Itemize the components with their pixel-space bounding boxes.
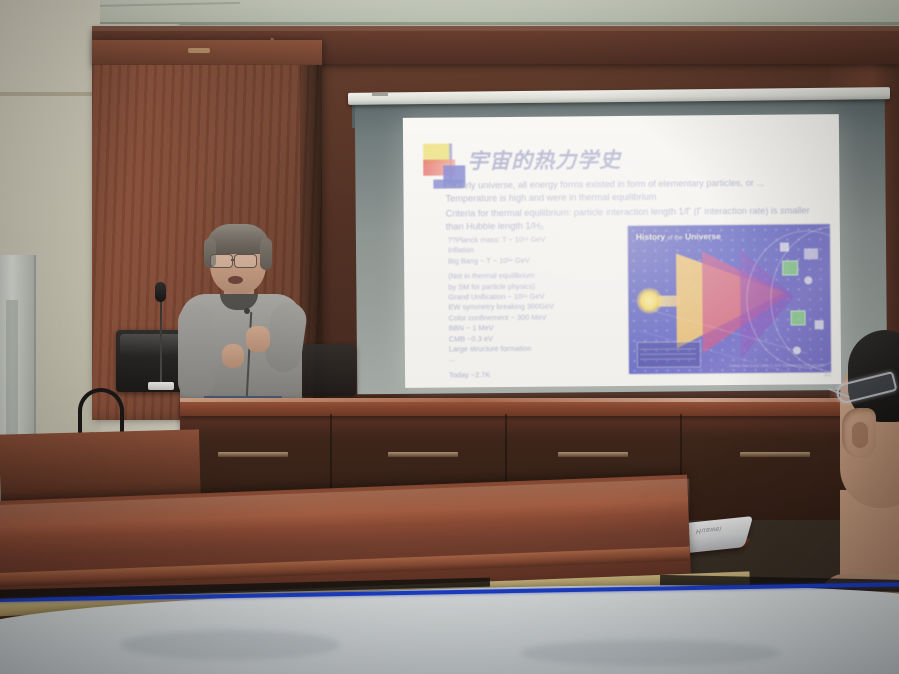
presenter-mouth xyxy=(228,276,243,284)
lapel-microphone-icon xyxy=(244,308,250,314)
presenter-hair-side xyxy=(260,238,272,270)
slide-lead-text-1: In early universe, all energy forms exis… xyxy=(445,176,805,204)
presenter xyxy=(176,228,306,404)
presenter-right-hand xyxy=(246,326,270,352)
eyeglasses-bridge xyxy=(231,259,235,261)
presenter-left-hand xyxy=(222,344,244,368)
structure-icon xyxy=(804,248,818,259)
figure-credit: Particle Data Group, LBNL © 2015 Support… xyxy=(729,363,825,368)
eyeglasses-icon xyxy=(234,254,257,268)
podium-panel-strip xyxy=(558,452,628,457)
roller-tab xyxy=(372,93,388,96)
wall-trim xyxy=(0,92,100,96)
podium-panel-strip xyxy=(388,452,458,457)
figure-title: History of the Universe xyxy=(636,231,721,242)
microphone-stem xyxy=(160,290,162,385)
galaxy-icon xyxy=(782,260,798,275)
podium-panel-strip xyxy=(740,452,810,457)
history-of-universe-figure: History of the Universe Particle Data Gr… xyxy=(628,224,831,374)
lecture-hall-photo: 宇宙的热力学史 In early universe, all energy fo… xyxy=(0,0,899,674)
figure-key-legend xyxy=(637,341,701,368)
cloth-fold xyxy=(520,640,780,666)
podium-top-highlight xyxy=(180,398,899,402)
slide-title: 宇宙的热力学史 xyxy=(467,144,621,175)
key-row-line xyxy=(640,348,696,349)
figure-title-word3: Universe xyxy=(685,231,721,241)
eyeglasses-icon xyxy=(210,254,233,268)
column-vent xyxy=(188,48,210,53)
podium-panel-strip xyxy=(218,452,288,457)
key-row-line xyxy=(640,358,696,359)
particle-icon xyxy=(793,346,801,354)
particle-icon xyxy=(804,276,812,284)
audience-member-foreground xyxy=(812,330,899,610)
microphone-base xyxy=(148,382,174,390)
cloth-fold xyxy=(120,630,340,660)
particle-icon xyxy=(815,320,824,329)
key-row-line xyxy=(640,353,696,354)
presenter-left-arm xyxy=(178,304,214,400)
list-item: Today ~2.7K xyxy=(449,369,629,381)
presentation-slide: 宇宙的热力学史 In early universe, all energy fo… xyxy=(403,114,841,388)
audience-ear-canal xyxy=(852,422,868,448)
microphone-head[interactable] xyxy=(155,282,166,302)
figure-title-word1: History xyxy=(636,232,665,242)
particle-icon xyxy=(780,243,789,252)
galaxy-icon xyxy=(791,310,806,325)
chair-armrest xyxy=(78,388,124,438)
slide-timeline-list: ??Planck mass: T ~ 10¹⁹ GeV Inflation Bi… xyxy=(448,234,629,381)
figure-title-word2: of the xyxy=(668,235,683,241)
beam-highlight xyxy=(92,26,899,31)
projection-screen: 宇宙的热力学史 In early universe, all energy fo… xyxy=(403,114,841,388)
